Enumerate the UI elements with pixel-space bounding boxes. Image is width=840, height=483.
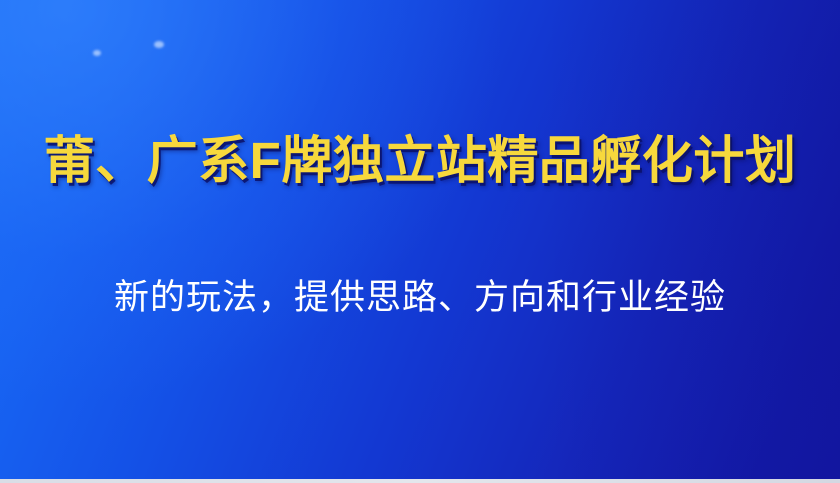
banner-headline: 莆、广系F牌独立站精品孵化计划: [0, 131, 840, 191]
bottom-edge-strip: [0, 479, 840, 483]
banner-content: 莆、广系F牌独立站精品孵化计划 新的玩法，提供思路、方向和行业经验: [0, 0, 840, 483]
banner-subheadline: 新的玩法，提供思路、方向和行业经验: [0, 275, 840, 321]
promo-banner: 莆、广系F牌独立站精品孵化计划 新的玩法，提供思路、方向和行业经验: [0, 0, 840, 483]
